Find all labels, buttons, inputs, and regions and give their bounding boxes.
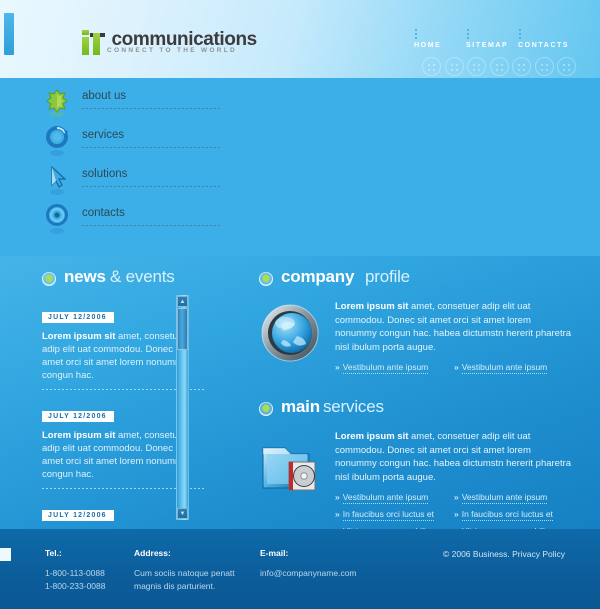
deco-circle-icon: [512, 57, 531, 76]
chevron-right-icon: »: [454, 492, 459, 502]
sidebar-item-divider: [82, 147, 220, 148]
scrollbar-thumb[interactable]: [177, 308, 188, 350]
footer-address-heading: Address:: [134, 548, 254, 558]
sidebar-item-solutions[interactable]: solutions: [42, 164, 227, 203]
company-profile-section: company profile: [259, 267, 574, 379]
deco-circle-icon: [422, 57, 441, 76]
topnav-label: HOME: [414, 42, 441, 49]
link-label: Vestibulum ante ipsum: [462, 492, 548, 504]
topnav-item-sitemap[interactable]: SITEMAP: [466, 29, 518, 49]
main-services-text: Lorem ipsum sit amet, consetuer adip eli…: [335, 430, 573, 484]
company-profile-heading-light: profile: [365, 267, 410, 287]
footer-notch: [0, 548, 11, 561]
laptop-icon: [372, 198, 405, 223]
main-services-heading-bold: main: [281, 397, 320, 417]
chevron-right-icon: »: [335, 362, 340, 372]
profile-link[interactable]: »Vestibulum ante ipsum: [335, 362, 454, 372]
main-services-lead: Lorem ipsum sit: [335, 431, 408, 442]
topnav-item-home[interactable]: HOME: [414, 29, 466, 49]
main-services-heading: main services: [259, 397, 574, 423]
phone-bubble: [529, 95, 577, 143]
profile-link[interactable]: »Vestibulum ante ipsum: [454, 362, 573, 372]
service-link[interactable]: »Vestibulum ante ipsum: [335, 492, 454, 502]
news-heading-light: & events: [110, 267, 175, 287]
main-services-section: main services: [259, 397, 574, 543]
bullet-circle-icon: [259, 272, 273, 286]
deco-circle-icon: [535, 57, 554, 76]
news-date-badge: JULY 12/2006: [42, 411, 114, 422]
news-lead: Lorem ipsum sit: [42, 430, 115, 441]
deco-circle-icon: [445, 57, 464, 76]
header-accent-bar: [4, 13, 14, 55]
sidebar-item-services[interactable]: services: [42, 125, 227, 164]
deco-circle-icon: [490, 57, 509, 76]
footer-address-line: Cum sociis natoque penatt magnis dis par…: [134, 567, 254, 593]
bullet-circle-icon: [259, 402, 273, 416]
puzzle-icon: [46, 87, 70, 119]
deco-circle-icon: [467, 57, 486, 76]
sidebar-navigation: about us services: [42, 86, 227, 242]
arrow-cursor-icon: [46, 165, 70, 197]
mobile-phone-icon: [549, 108, 558, 130]
sidebar-item-divider: [82, 186, 220, 187]
right-column: company profile: [259, 267, 574, 543]
news-and-events-section: news & events JULY 12/2006 Lorem ipsum s…: [42, 267, 228, 521]
sidebar-item-label: services: [82, 129, 124, 141]
chevron-right-icon: »: [335, 509, 340, 519]
topnav-label: CONTACTS: [518, 42, 569, 49]
topnav-label: SITEMAP: [466, 42, 508, 49]
chevron-right-icon: »: [454, 362, 459, 372]
footer-tel-2: 1-800-233-0088: [45, 580, 106, 593]
news-heading: news & events: [42, 267, 228, 293]
service-link[interactable]: »Vestibulum ante ipsum: [454, 492, 573, 502]
footer-column-copyright: © 2006 Business. Privacy Policy: [443, 548, 565, 561]
logo-it-mark: [80, 29, 106, 55]
news-scrollbar[interactable]: ▲ ▼: [176, 295, 189, 520]
dot-separator-icon: [467, 29, 469, 38]
logo-tagline: CONNECT TO THE WORLD: [107, 47, 237, 54]
service-link[interactable]: »In faucibus orci luctus et: [454, 509, 573, 519]
link-label: In faucibus orci luctus et: [343, 509, 434, 521]
at-sign-bubble: @: [407, 90, 523, 206]
sidebar-item-about-us[interactable]: about us: [42, 86, 227, 125]
header-decorative-circles: [422, 57, 576, 76]
news-date-badge: JULY 12/2006: [42, 312, 114, 323]
target-icon: [46, 204, 70, 236]
sidebar-item-contacts[interactable]: contacts: [42, 203, 227, 242]
sidebar-item-label: about us: [82, 90, 126, 102]
top-navigation: HOME SITEMAP CONTACTS: [414, 29, 586, 49]
link-label: Vestibulum ante ipsum: [462, 362, 548, 374]
footer-column-tel: Tel.: 1-800-113-0088 1-800-233-0088: [45, 548, 106, 593]
company-profile-links: »Vestibulum ante ipsum »Vestibulum ante …: [335, 362, 574, 379]
company-profile-heading: company profile: [259, 267, 574, 293]
topnav-item-contacts[interactable]: CONTACTS: [518, 29, 570, 49]
laptop-bubble: [357, 180, 417, 240]
footer-column-address: Address: Cum sociis natoque penatt magni…: [134, 548, 254, 593]
sidebar-item-divider: [82, 108, 220, 109]
dot-separator-icon: [519, 29, 521, 38]
site-footer: Tel.: 1-800-113-0088 1-800-233-0088 Addr…: [0, 529, 600, 609]
magnifier-icon: [534, 187, 561, 215]
company-profile-text: Lorem ipsum sit amet, consetuer adip eli…: [335, 300, 573, 354]
news-lead: Lorem ipsum sit: [42, 331, 115, 342]
scroll-up-button[interactable]: ▲: [177, 296, 188, 307]
company-profile-lead: Lorem ipsum sit: [335, 301, 408, 312]
main-services-heading-light: services: [323, 397, 384, 417]
footer-tel-heading: Tel.:: [45, 548, 106, 558]
chevron-right-icon: »: [335, 492, 340, 502]
folder-cd-icon: [259, 432, 325, 496]
sidebar-item-label: contacts: [82, 207, 125, 219]
link-label: In faucibus orci luctus et: [462, 509, 553, 521]
scroll-down-button[interactable]: ▼: [177, 508, 188, 519]
news-heading-bold: news: [64, 267, 106, 287]
magnifier-bubble: [516, 174, 576, 234]
main-services-body: Lorem ipsum sit amet, consetuer adip eli…: [259, 430, 574, 543]
globe-icon: [259, 302, 325, 366]
links-column-right: »Vestibulum ante ipsum: [454, 362, 573, 379]
svg-text:@: @: [439, 117, 491, 179]
link-label: Vestibulum ante ipsum: [343, 362, 429, 374]
company-profile-heading-bold: company: [281, 267, 354, 287]
service-link[interactable]: »In faucibus orci luctus et: [335, 509, 454, 519]
deco-circle-icon: [557, 57, 576, 76]
footer-email-heading: E-mail:: [260, 548, 420, 558]
link-label: Vestibulum ante ipsum: [343, 492, 429, 504]
dot-separator-icon: [415, 29, 417, 38]
cycle-icon: [46, 126, 70, 158]
sidebar-item-label: solutions: [82, 168, 127, 180]
footer-tel-1: 1-800-113-0088: [45, 567, 106, 580]
footer-email-address[interactable]: info@companyname.com: [260, 567, 420, 580]
cd-case: [289, 462, 315, 490]
sidebar-item-divider: [82, 225, 220, 226]
footer-column-email: E-mail: info@companyname.com: [260, 548, 420, 580]
bullet-circle-icon: [42, 272, 56, 286]
company-profile-body: Lorem ipsum sit amet, consetuer adip eli…: [259, 300, 574, 379]
footer-copyright: © 2006 Business. Privacy Policy: [443, 548, 565, 561]
main-content: news & events JULY 12/2006 Lorem ipsum s…: [0, 256, 600, 529]
folder-icon: [319, 80, 354, 102]
chevron-right-icon: »: [454, 509, 459, 519]
news-scroll-viewport: JULY 12/2006 Lorem ipsum sit amet, conse…: [42, 306, 228, 521]
links-column-left: »Vestibulum ante ipsum: [335, 362, 454, 379]
page-root: @: [0, 0, 600, 609]
news-date-badge: JULY 12/2006: [42, 510, 114, 521]
